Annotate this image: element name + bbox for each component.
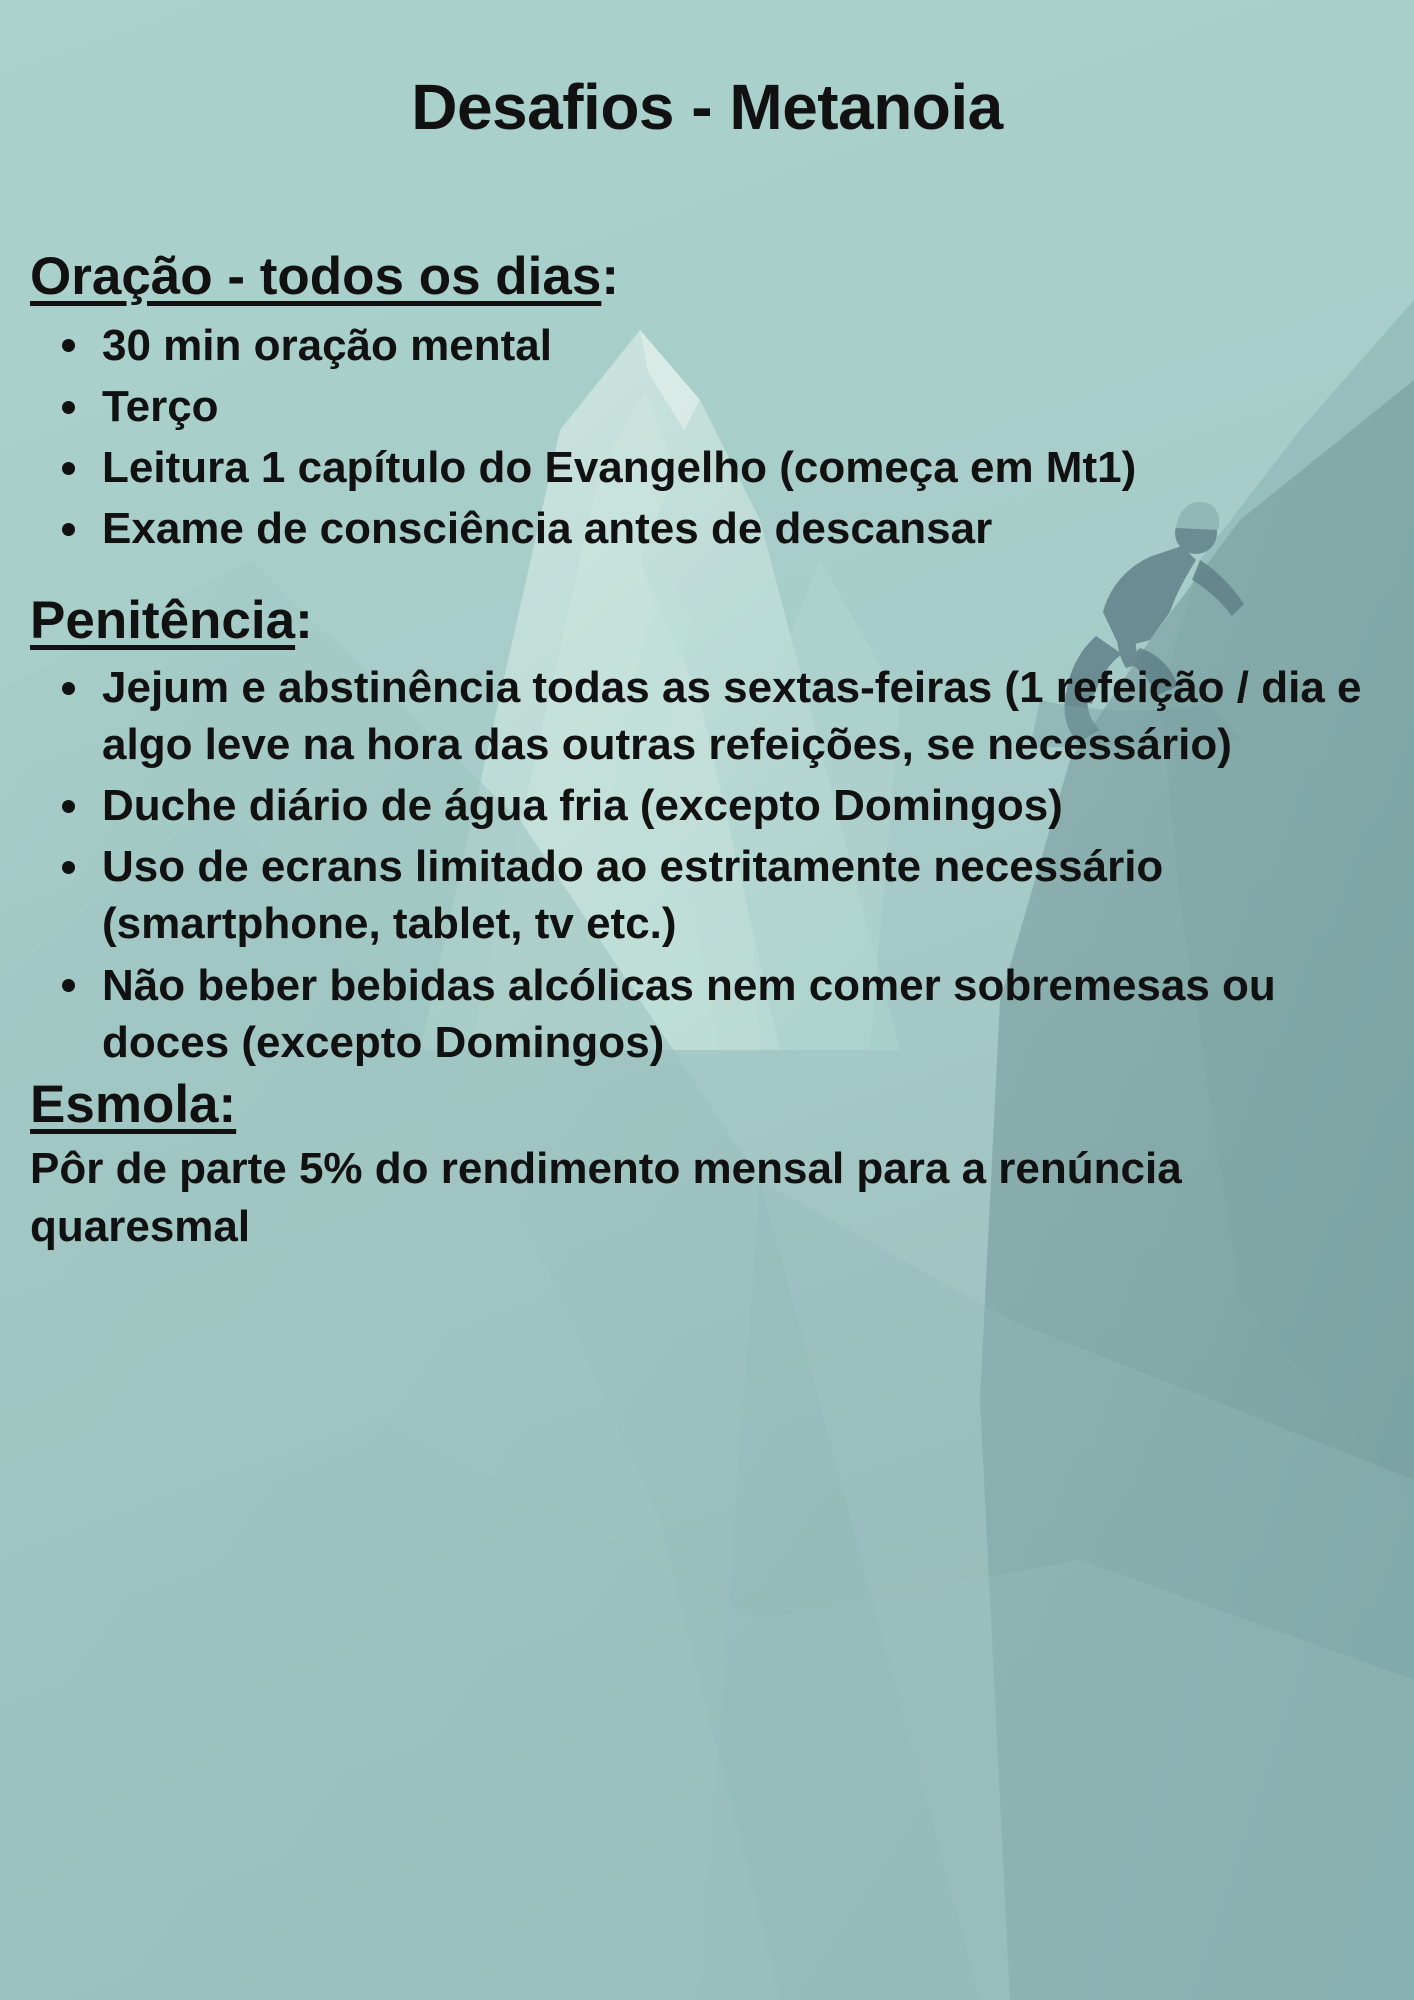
section-penitencia: Penitência: Jejum e abstinência todas as… [0,591,1414,1071]
bullet-dot-icon [62,339,75,352]
list-item-label: Não beber bebidas alcólicas nem comer so… [102,961,1276,1067]
list-item: Uso de ecrans limitado ao estritamente n… [0,838,1414,952]
poster-content: Desafios - Metanoia Oração - todos os di… [0,0,1414,2000]
list-item: Exame de consciência antes de descansar [0,500,1414,557]
list-item: Leitura 1 capítulo do Evangelho (começa … [0,439,1414,496]
bullet-dot-icon [62,979,75,992]
list-item: Jejum e abstinência todas as sextas-feir… [0,659,1414,773]
bullet-list-oracao: 30 min oração mental Terço Leitura 1 cap… [0,317,1414,558]
section-heading-oracao-underlined: Oração - todos os dias [30,247,601,306]
poster-canvas: Desafios - Metanoia Oração - todos os di… [0,0,1414,2000]
bullet-dot-icon [62,861,75,874]
section-heading-esmola-underlined: Esmola: [30,1075,236,1134]
section-heading-penitencia-colon: : [295,591,313,650]
esmola-body-text: Pôr de parte 5% do rendimento mensal par… [0,1140,1402,1254]
section-heading-oracao: Oração - todos os dias: [0,247,1414,306]
list-item-label: Uso de ecrans limitado ao estritamente n… [102,842,1163,948]
list-item: Terço [0,378,1414,435]
section-oracao: Oração - todos os dias: 30 min oração me… [0,247,1414,557]
bullet-dot-icon [62,682,75,695]
list-item: Duche diário de água fria (excepto Domin… [0,777,1414,834]
bullet-dot-icon [62,401,75,414]
section-heading-oracao-colon: : [601,247,619,306]
bullet-list-penitencia: Jejum e abstinência todas as sextas-feir… [0,659,1414,1071]
bullet-dot-icon [62,462,75,475]
list-item-label: Exame de consciência antes de descansar [102,504,992,553]
list-item-label: Leitura 1 capítulo do Evangelho (começa … [102,443,1136,492]
section-heading-penitencia-underlined: Penitência [30,591,295,650]
section-esmola: Esmola: Pôr de parte 5% do rendimento me… [0,1075,1414,1255]
list-item-label: 30 min oração mental [102,321,552,370]
list-item: 30 min oração mental [0,317,1414,374]
list-item-label: Jejum e abstinência todas as sextas-feir… [102,663,1361,769]
list-item: Não beber bebidas alcólicas nem comer so… [0,957,1414,1071]
bullet-dot-icon [62,800,75,813]
section-heading-esmola: Esmola: [0,1075,1414,1134]
bullet-dot-icon [62,523,75,536]
section-heading-penitencia: Penitência: [0,591,1414,650]
list-item-label: Duche diário de água fria (excepto Domin… [102,781,1063,830]
page-title: Desafios - Metanoia [0,0,1414,141]
list-item-label: Terço [102,382,219,431]
